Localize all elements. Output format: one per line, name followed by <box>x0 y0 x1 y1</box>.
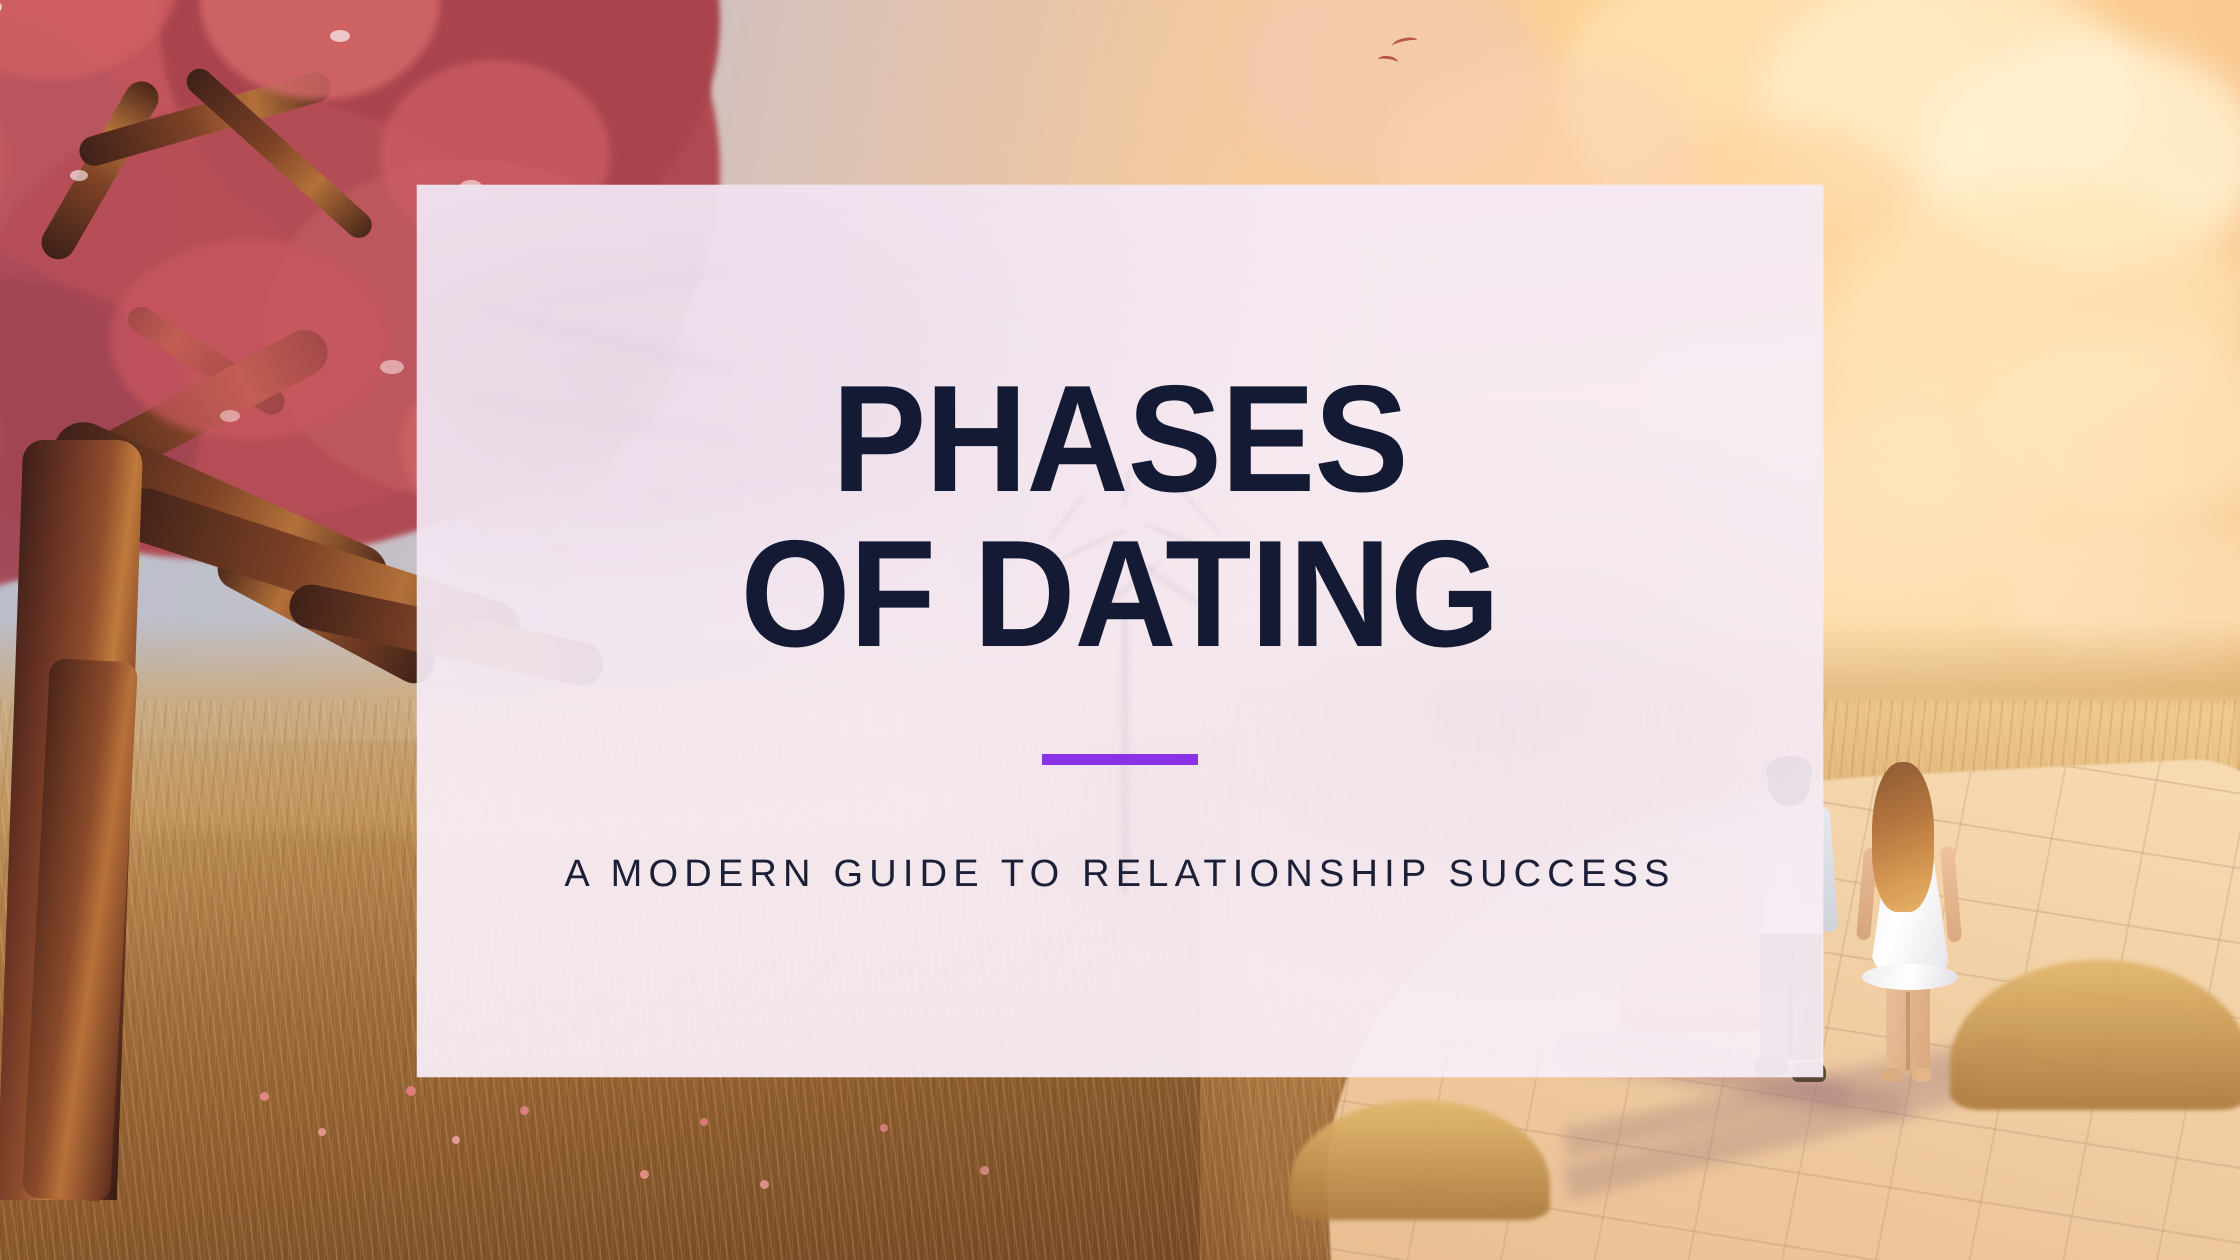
title-line-1: PHASES <box>741 366 1500 513</box>
title-card: PHASES OF DATING A MODERN GUIDE TO RELAT… <box>417 185 1823 1077</box>
poster-canvas: PHASES OF DATING A MODERN GUIDE TO RELAT… <box>0 0 2240 1260</box>
title-line-2: OF DATING <box>741 521 1500 668</box>
accent-divider <box>1042 754 1198 765</box>
page-subtitle: A MODERN GUIDE TO RELATIONSHIP SUCCESS <box>564 853 1675 896</box>
page-title: PHASES OF DATING <box>741 366 1500 669</box>
